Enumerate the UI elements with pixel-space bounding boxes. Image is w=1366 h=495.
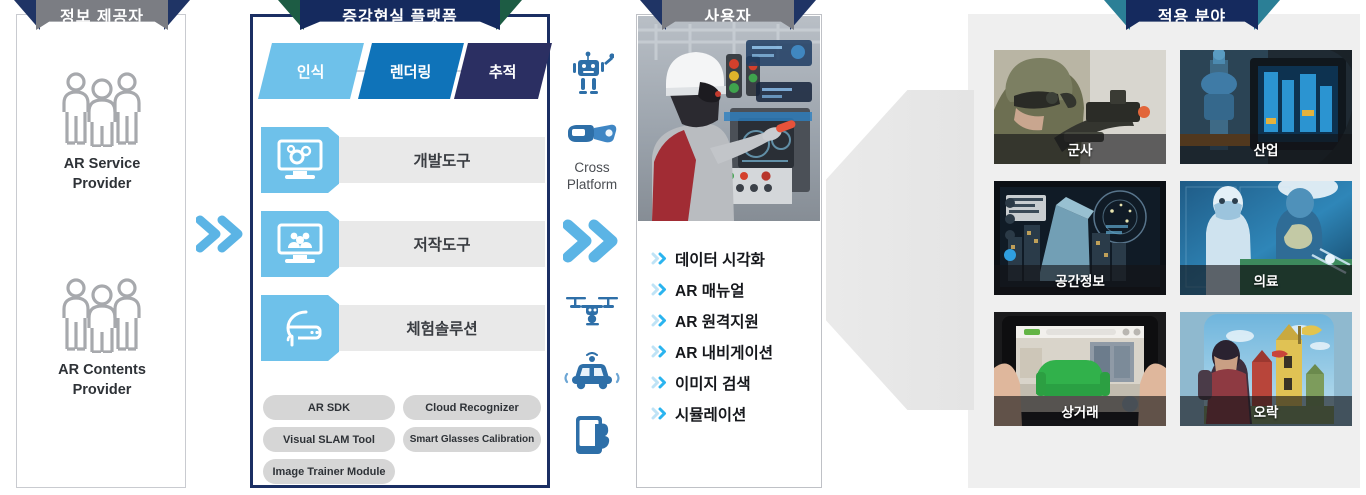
double-chevron-right-icon — [651, 313, 668, 328]
user-service-list: 데이터 시각화 AR 매뉴얼 AR 원격지원 — [651, 243, 819, 429]
provider-panel: AR Service Provider AR Conte — [16, 14, 186, 488]
banner-apps-label: 적용 분야 — [1126, 0, 1258, 30]
app-card-caption: 공간정보 — [994, 265, 1166, 295]
app-card-caption: 군사 — [994, 134, 1166, 164]
monitor-gears-icon-box — [261, 127, 339, 193]
double-chevron-right-icon — [563, 218, 621, 264]
self-driving-car-icon — [563, 352, 621, 392]
vr-headset-icon — [276, 307, 324, 349]
cross-platform-column: Cross Platform — [556, 40, 628, 470]
pill-cloud-recognizer[interactable]: Cloud Recognizer — [403, 395, 541, 420]
platform-pill-list: AR SDK Cloud Recognizer Visual SLAM Tool… — [263, 395, 543, 484]
double-chevron-right-icon — [196, 214, 244, 254]
banner-user: 사용자 — [662, 0, 794, 30]
user-service-label: 데이터 시각화 — [675, 248, 765, 270]
provider-item-ar-service: AR Service Provider — [17, 71, 187, 194]
cross-platform-label-line2: Platform — [567, 177, 617, 194]
apps-panel: 군사 — [968, 14, 1360, 488]
double-chevron-right-icon — [651, 406, 668, 421]
cross-icon-self-driving-car — [556, 352, 628, 392]
provider-label: AR Contents Provider — [58, 361, 146, 400]
cross-icon-smart-glasses — [556, 120, 628, 150]
cross-icon-handheld-phone — [556, 410, 628, 460]
provider-label-line2: Provider — [58, 381, 146, 401]
app-card-military[interactable]: 군사 — [994, 50, 1166, 164]
user-service-item[interactable]: AR 내비게이션 — [651, 336, 819, 367]
platform-row-label: 저작도구 — [339, 221, 545, 267]
three-people-icon — [56, 277, 148, 353]
platform-row-label: 체험솔루션 — [339, 305, 545, 351]
double-chevron-right-icon — [651, 251, 668, 266]
smart-glasses-icon — [566, 120, 618, 150]
robot-icon — [570, 50, 614, 100]
pill-ar-sdk[interactable]: AR SDK — [263, 395, 395, 420]
platform-row-label: 개발도구 — [339, 137, 545, 183]
monitor-gears-icon — [276, 139, 324, 181]
cross-icon-robot — [556, 50, 628, 100]
provider-label-line1: AR Contents — [58, 361, 146, 381]
tab-label: 인식 — [297, 61, 325, 82]
double-chevron-right-icon — [651, 344, 668, 359]
platform-tabs: 인식 렌더링 추적 — [261, 43, 545, 99]
monitor-people-icon — [276, 223, 324, 265]
banner-provider: 정보 제공자 — [36, 0, 168, 30]
worker-ar-hud-illustration — [638, 16, 820, 221]
platform-panel: 인식 렌더링 추적 개발도구 — [250, 14, 550, 488]
banner-provider-label: 정보 제공자 — [36, 0, 168, 30]
banner-platform-label: 증강현실 플랫폼 — [300, 0, 500, 30]
tab-rendering[interactable]: 렌더링 — [358, 43, 464, 99]
cross-platform-label-line1: Cross — [567, 160, 617, 177]
banner-user-label: 사용자 — [662, 0, 794, 30]
apps-grid: 군사 — [994, 50, 1352, 426]
app-card-caption: 의료 — [1180, 265, 1352, 295]
app-card-industry[interactable]: 산업 — [1180, 50, 1352, 164]
app-card-caption: 상거래 — [994, 396, 1166, 426]
tab-label: 렌더링 — [390, 61, 431, 82]
provider-label-line2: Provider — [64, 175, 141, 195]
app-card-medical[interactable]: 의료 — [1180, 181, 1352, 295]
provider-label-line1: AR Service — [64, 155, 141, 175]
user-service-item[interactable]: AR 원격지원 — [651, 305, 819, 336]
vr-headset-icon-box — [261, 295, 339, 361]
user-panel: 데이터 시각화 AR 매뉴얼 AR 원격지원 — [636, 14, 822, 488]
pill-visual-slam-tool[interactable]: Visual SLAM Tool — [263, 427, 395, 452]
flow-arrow-provider-to-platform — [196, 214, 244, 254]
user-service-item[interactable]: 시뮬레이션 — [651, 398, 819, 429]
provider-item-ar-contents: AR Contents Provider — [17, 277, 187, 400]
user-service-label: AR 원격지원 — [675, 310, 759, 332]
platform-row-experience-solution[interactable]: 체험솔루션 — [261, 295, 545, 361]
banner-platform: 증강현실 플랫폼 — [300, 0, 500, 30]
flow-funnel-arrow — [826, 90, 974, 410]
monitor-people-icon-box — [261, 211, 339, 277]
app-card-caption: 산업 — [1180, 134, 1352, 164]
tab-label: 추적 — [489, 61, 517, 82]
tab-recognition[interactable]: 인식 — [258, 43, 364, 99]
infographic-root: AR Service Provider AR Conte — [0, 0, 1366, 495]
banner-apps: 적용 분야 — [1126, 0, 1258, 30]
cross-icon-drone — [556, 290, 628, 332]
user-service-label: AR 매뉴얼 — [675, 279, 744, 301]
app-card-entertainment[interactable]: 오락 — [1180, 312, 1352, 426]
drone-icon — [564, 290, 620, 332]
pill-smart-glasses-calibration[interactable]: Smart Glasses Calibration — [403, 427, 541, 452]
platform-row-dev-tools[interactable]: 개발도구 — [261, 127, 545, 193]
pill-image-trainer-module[interactable]: Image Trainer Module — [263, 459, 395, 484]
user-service-label: 시뮬레이션 — [675, 403, 746, 425]
app-card-caption: 오락 — [1180, 396, 1352, 426]
cross-platform-label-wrap: Cross Platform — [556, 160, 628, 194]
platform-row-authoring-tools[interactable]: 저작도구 — [261, 211, 545, 277]
user-service-item[interactable]: AR 매뉴얼 — [651, 274, 819, 305]
app-card-spatial-info[interactable]: 공간정보 — [994, 181, 1166, 295]
app-card-commerce[interactable]: 상거래 — [994, 312, 1166, 426]
user-service-item[interactable]: 이미지 검색 — [651, 367, 819, 398]
user-service-label: 이미지 검색 — [675, 372, 751, 394]
three-people-icon — [56, 71, 148, 147]
tab-tracking[interactable]: 추적 — [454, 43, 552, 99]
user-photo — [638, 16, 820, 221]
user-service-item[interactable]: 데이터 시각화 — [651, 243, 819, 274]
double-chevron-right-icon — [651, 282, 668, 297]
handheld-phone-icon — [571, 410, 613, 460]
flow-arrow-platform-to-user — [556, 218, 628, 264]
user-service-label: AR 내비게이션 — [675, 341, 773, 363]
double-chevron-right-icon — [651, 375, 668, 390]
provider-label: AR Service Provider — [64, 155, 141, 194]
